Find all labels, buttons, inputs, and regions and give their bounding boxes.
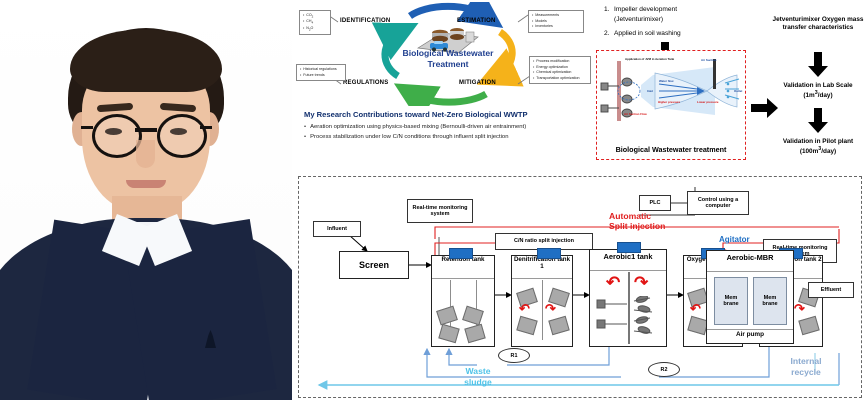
jvm-box-caption: Biological Wastewater treatment [597,145,745,154]
mixing-swirl-icon: ↶ [519,302,530,315]
cycle-box-mitigation: Process modification Energy optimization… [529,56,591,84]
waste-sludge-label: Wastesludge [440,366,516,387]
screen-box[interactable]: Screen [339,251,409,279]
mouth-shape [126,180,166,188]
mixing-swirl-icon: ↷ [545,302,556,315]
cycle-box-regulations: Historical regulations Future trends [296,64,346,81]
rtop-numbered-list: 1. Impeller development(Jetventurimixer)… [604,5,734,44]
wwtp-cycle-diagram: Biological Wastewater Treatment IDENTIFI… [300,2,592,106]
jvm-label-water-flow: Water flow [659,80,674,84]
contribution-item: •Aeration optimization using physics-bas… [304,124,604,130]
membrane-module-1: Membrane [714,277,748,325]
recycle-node-r1: R1 [498,348,530,363]
arrow-down-icon [807,108,829,134]
jvm-label-application: Application of JVM in Aeration Tank [625,58,674,62]
eyeglasses-right-lens [157,114,207,158]
mixing-swirl-icon: ↷ [794,302,805,315]
contributions-title: My Research Contributions toward Net-Zer… [304,110,604,119]
eyeglasses-temple-right [200,126,212,129]
jvm-schematic [597,51,747,137]
eyeglasses-bridge [135,128,157,132]
validation-pilot-plant: Validation in Pilot plant (100m3/day) [768,138,865,157]
eyeglasses-left-lens [92,114,142,158]
aeration-swirl-icon: ↶ [606,274,620,291]
jvm-characteristics-label: Jetventurimixer Oxygen mass transfer cha… [772,16,864,33]
membrane-module-2: Membrane [753,277,787,325]
cycle-box-estimation: Measurements Models Inventories [528,10,584,33]
effluent-box[interactable]: Effluent [808,282,854,298]
jvm-label-outlet: Outlet [734,90,742,94]
monitoring-system-left[interactable]: Real-time monitoring system [407,199,473,223]
agitator-cap-retention [449,248,473,259]
cycle-box-identification: CO2 CH4 N2O [299,10,331,35]
eyeglasses-temple-left [81,126,93,129]
bullet-icon: • [304,124,306,130]
tank-aerobic-mbr[interactable]: Aerobic-MBR Membrane Membrane Air pump [706,250,794,344]
lab-scale-rate: (1m3/day) [803,92,832,99]
portrait-photo [0,0,292,400]
research-contributions: My Research Contributions toward Net-Zer… [304,110,604,143]
poster-canvas: Biological Wastewater Treatment IDENTIFI… [0,0,865,400]
list-item: 2. Applied in soil washing [604,29,734,39]
agitator-label: Agitator [719,235,750,244]
tank-aerobic-1[interactable]: Aerobic1 tank ↶ ↷ [589,249,667,347]
pilot-plant-rate: (100m3/day) [800,148,836,155]
bullet-icon: • [304,134,306,140]
nose-shape [136,140,155,168]
air-pump-label: Air pump [707,331,793,338]
mixing-swirl-icon: ↶ [690,302,701,315]
influent-box[interactable]: Influent [313,221,361,237]
jvm-nozzles-icon [594,296,664,340]
automatic-split-injection-label: AutomaticSplit injection [609,211,719,232]
recycle-node-r2: R2 [648,362,680,377]
list-item: 1. Impeller development(Jetventurimixer) [604,5,734,24]
contribution-item: •Process stabilization under low C/N con… [304,134,604,140]
agitator-cap-denit1 [537,248,561,259]
hair-front [70,30,222,92]
tank-denitrification-1[interactable]: Denitrification tank 1 ↶ ↷ [511,255,573,347]
arrow-down-icon [807,52,829,78]
tank-retention[interactable]: Retention tank [431,255,495,347]
aeration-swirl-icon: ↷ [634,274,648,291]
jvm-label-inlet: Inlet [647,90,653,94]
jvm-label-air-suction: Air Suction [701,59,716,63]
validation-lab-scale: Validation in Lab Scale (1m3/day) [772,82,864,101]
jvm-label-lower-pressure: Lower pressure [697,101,719,105]
jvm-label-air-suction-flow: Air Suction Flow [624,113,647,117]
jvm-illustration-box: Application of JVM in Aeration Tank Air … [596,50,746,160]
internal-recycle-label: Internalrecycle [768,356,844,377]
agitator-cap-aerobic1 [617,242,641,253]
plc-box[interactable]: PLC [639,195,671,211]
jvm-label-higher-pressure: Higher pressure [658,101,680,105]
arrow-right-icon [751,98,779,118]
jetventurimixer-flow: 1. Impeller development(Jetventurimixer)… [596,2,864,174]
